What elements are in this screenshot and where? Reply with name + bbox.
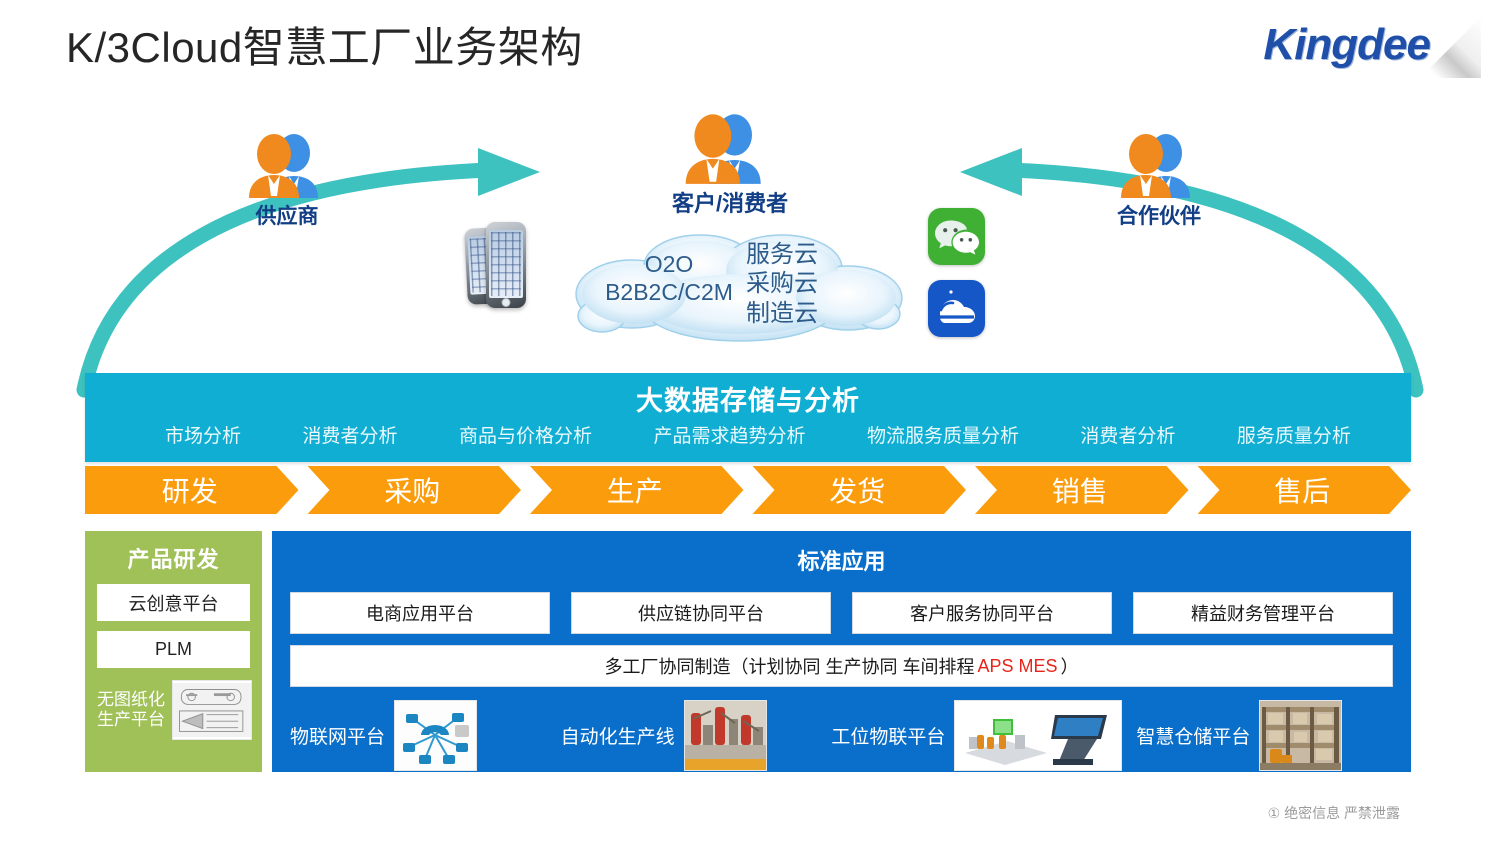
rnd-paperless-line2: 生产平台 [97,710,168,730]
smart-warehouse-thumbnail [1259,700,1342,771]
cloud-app-glyph [928,280,985,337]
workstation-image [955,701,1121,770]
cloud-shape: O2O B2B2C/C2M 服务云 采购云 制造云 [560,228,920,346]
multi-factory-prefix: 多工厂协同制造（计划协同 生产协同 车间排程 [604,653,974,679]
people-icon [1113,132,1205,198]
rnd-card-plm[interactable]: PLM [97,631,250,668]
process-step-label: 售后 [1274,470,1330,510]
automation-line-image [685,701,766,770]
platform-card-ecommerce[interactable]: 电商应用平台 [290,592,550,634]
process-step-label: 发货 [829,470,885,510]
people-icon [241,132,333,198]
process-step-label: 研发 [162,470,218,510]
process-step-purchase[interactable]: 采购 [308,466,522,514]
multi-factory-highlight: APS MES [977,656,1057,677]
bigdata-item: 商品与价格分析 [457,421,594,448]
confidential-footer: ① 绝密信息 严禁泄露 [1268,803,1400,823]
rnd-panel-title: 产品研发 [85,531,262,574]
iot-item-row: 物联网平台 [290,700,1393,771]
process-step-delivery[interactable]: 发货 [753,466,967,514]
bigdata-item: 消费者分析 [1078,421,1177,448]
standard-application-panel: 标准应用 电商应用平台 供应链协同平台 客户服务协同平台 精益财务管理平台 多工… [272,531,1411,772]
page-title: K/3Cloud智慧工厂业务架构 [66,14,583,75]
bigdata-item: 物流服务质量分析 [865,421,1021,448]
bigdata-band: 大数据存储与分析 市场分析 消费者分析 商品与价格分析 产品需求趋势分析 物流服… [85,373,1411,462]
bigdata-item: 市场分析 [163,421,243,448]
smart-warehouse-image [1260,701,1341,770]
iot-item-workstation[interactable]: 工位物联平台 [831,700,1122,771]
iot-network-thumbnail [394,700,477,771]
smartphones-image [466,222,528,314]
process-chain: 研发 采购 生产 发货 销售 售后 [85,466,1411,514]
multi-factory-bar[interactable]: 多工厂协同制造（计划协同 生产协同 车间排程 APS MES ） [290,645,1393,687]
automation-line-thumbnail [684,700,767,771]
rnd-card-cloud-idea[interactable]: 云创意平台 [97,584,250,621]
rnd-paperless-line1: 无图纸化 [97,690,168,710]
iot-item-automation-line[interactable]: 自动化生产线 [561,700,818,771]
process-step-rnd[interactable]: 研发 [85,466,299,514]
cloud-text-b2b2c: B2B2C/C2M [584,278,754,306]
kingdee-logo-text: Kingdee [1263,20,1430,70]
ecosystem-node-supplier: 供应商 [232,132,342,230]
customer-label: 客户/消费者 [672,186,782,218]
ecosystem-node-customer: 客户/消费者 [672,112,782,218]
cloud-left-text: O2O B2B2C/C2M [584,250,754,306]
bigdata-item: 消费者分析 [300,421,399,448]
cloud-right-text: 服务云 采购云 制造云 [746,240,866,328]
process-step-production[interactable]: 生产 [530,466,744,514]
platform-card-row: 电商应用平台 供应链协同平台 客户服务协同平台 精益财务管理平台 [290,592,1393,634]
iot-label: 自动化生产线 [561,722,675,749]
iot-item-smart-warehouse[interactable]: 智慧仓储平台 [1136,700,1393,771]
standard-panel-title: 标准应用 [272,531,1411,576]
cloud-text-service: 服务云 [746,240,866,269]
rnd-paperless-row: 无图纸化 生产平台 [97,678,252,742]
cloud-app-icon[interactable] [928,280,985,337]
cloud-text-manufacture: 制造云 [746,299,866,328]
iot-network-image [395,701,476,770]
slide-root: K/3Cloud智慧工厂业务架构 Kingdee 供应商 [0,0,1500,843]
wechat-glyph [928,208,985,265]
bigdata-item: 服务质量分析 [1235,421,1353,448]
rnd-paperless-label: 无图纸化 生产平台 [97,690,168,730]
cloud-text-o2o: O2O [584,250,754,278]
platform-card-finance[interactable]: 精益财务管理平台 [1133,592,1393,634]
process-step-label: 采购 [384,470,440,510]
multi-factory-suffix: ） [1061,653,1079,679]
process-step-aftersales[interactable]: 售后 [1198,466,1412,514]
bottom-section: 产品研发 云创意平台 PLM 无图纸化 生产平台 [85,531,1411,772]
workstation-thumbnail [954,700,1122,771]
phone-front [486,222,526,308]
ecosystem-node-partner: 合作伙伴 [1104,132,1214,230]
supplier-label: 供应商 [232,200,342,230]
wechat-icon[interactable] [928,208,985,265]
bigdata-item-list: 市场分析 消费者分析 商品与价格分析 产品需求趋势分析 物流服务质量分析 消费者… [163,421,1353,448]
iot-item-iot-platform[interactable]: 物联网平台 [290,700,547,771]
bigdata-item: 产品需求趋势分析 [651,421,807,448]
people-icon [677,112,777,184]
partner-label: 合作伙伴 [1104,200,1214,230]
platform-card-supplychain[interactable]: 供应链协同平台 [571,592,831,634]
platform-card-customer-service[interactable]: 客户服务协同平台 [852,592,1112,634]
bigdata-title: 大数据存储与分析 [85,379,1411,418]
rnd-panel: 产品研发 云创意平台 PLM 无图纸化 生产平台 [85,531,262,772]
cloud-text-purchase: 采购云 [746,269,866,298]
iot-label: 工位物联平台 [831,722,945,749]
cad-drawing-image [173,681,251,739]
process-step-sales[interactable]: 销售 [975,466,1189,514]
process-step-label: 销售 [1052,470,1108,510]
iot-label: 智慧仓储平台 [1136,722,1250,749]
kingdee-logo: Kingdee [1212,10,1482,80]
cad-drawing-thumbnail [172,680,252,740]
process-step-label: 生产 [607,470,663,510]
iot-label: 物联网平台 [290,722,385,749]
page-curl-edge [1419,16,1482,78]
